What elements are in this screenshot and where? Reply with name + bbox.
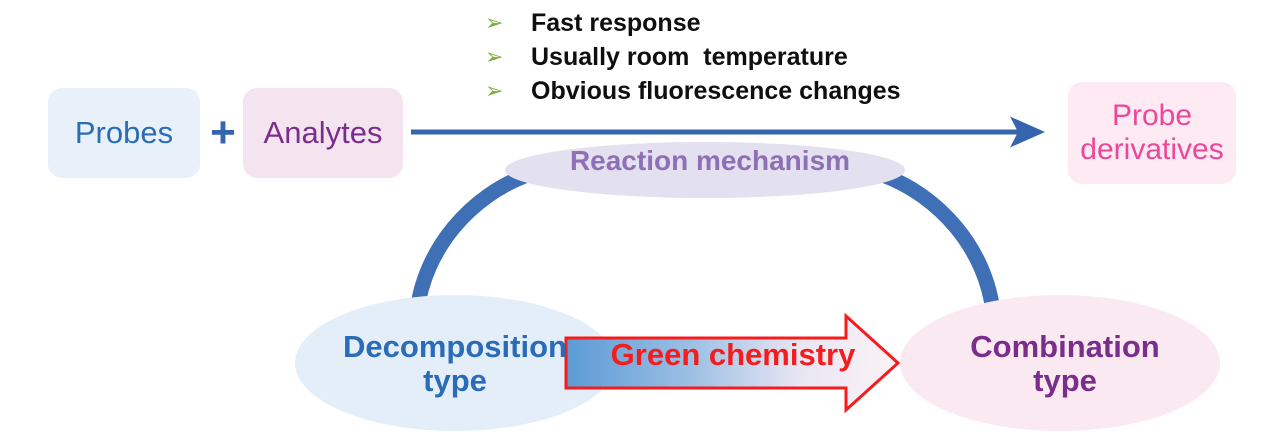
list-item-label: Obvious fluorescence changes xyxy=(531,77,901,106)
reaction-scheme-figure: Probes + Analytes Probe derivatives ➢ Fa… xyxy=(0,0,1287,446)
arc-to-combination xyxy=(880,174,993,312)
analytes-box: Analytes xyxy=(243,88,403,178)
green-chemistry-arrow xyxy=(566,316,898,410)
probes-box: Probes xyxy=(48,88,200,178)
probe-derivatives-box: Probe derivatives xyxy=(1068,82,1236,184)
feature-list: ➢ Fast response ➢ Usually room temperatu… xyxy=(485,6,1005,108)
arrow-bullet-icon: ➢ xyxy=(485,46,531,68)
arrow-bullet-icon: ➢ xyxy=(485,12,531,34)
combination-ellipse xyxy=(900,295,1220,431)
list-item: ➢ Usually room temperature xyxy=(485,40,1005,74)
list-item-label: Usually room temperature xyxy=(531,43,848,72)
list-item: ➢ Obvious fluorescence changes xyxy=(485,74,1005,108)
reaction-mechanism-ellipse xyxy=(505,142,905,198)
arrow-bullet-icon: ➢ xyxy=(485,80,531,102)
list-item-label: Fast response xyxy=(531,9,701,38)
arc-to-decomposition xyxy=(417,174,530,312)
list-item: ➢ Fast response xyxy=(485,6,1005,40)
plus-sign-icon: + xyxy=(204,101,242,165)
